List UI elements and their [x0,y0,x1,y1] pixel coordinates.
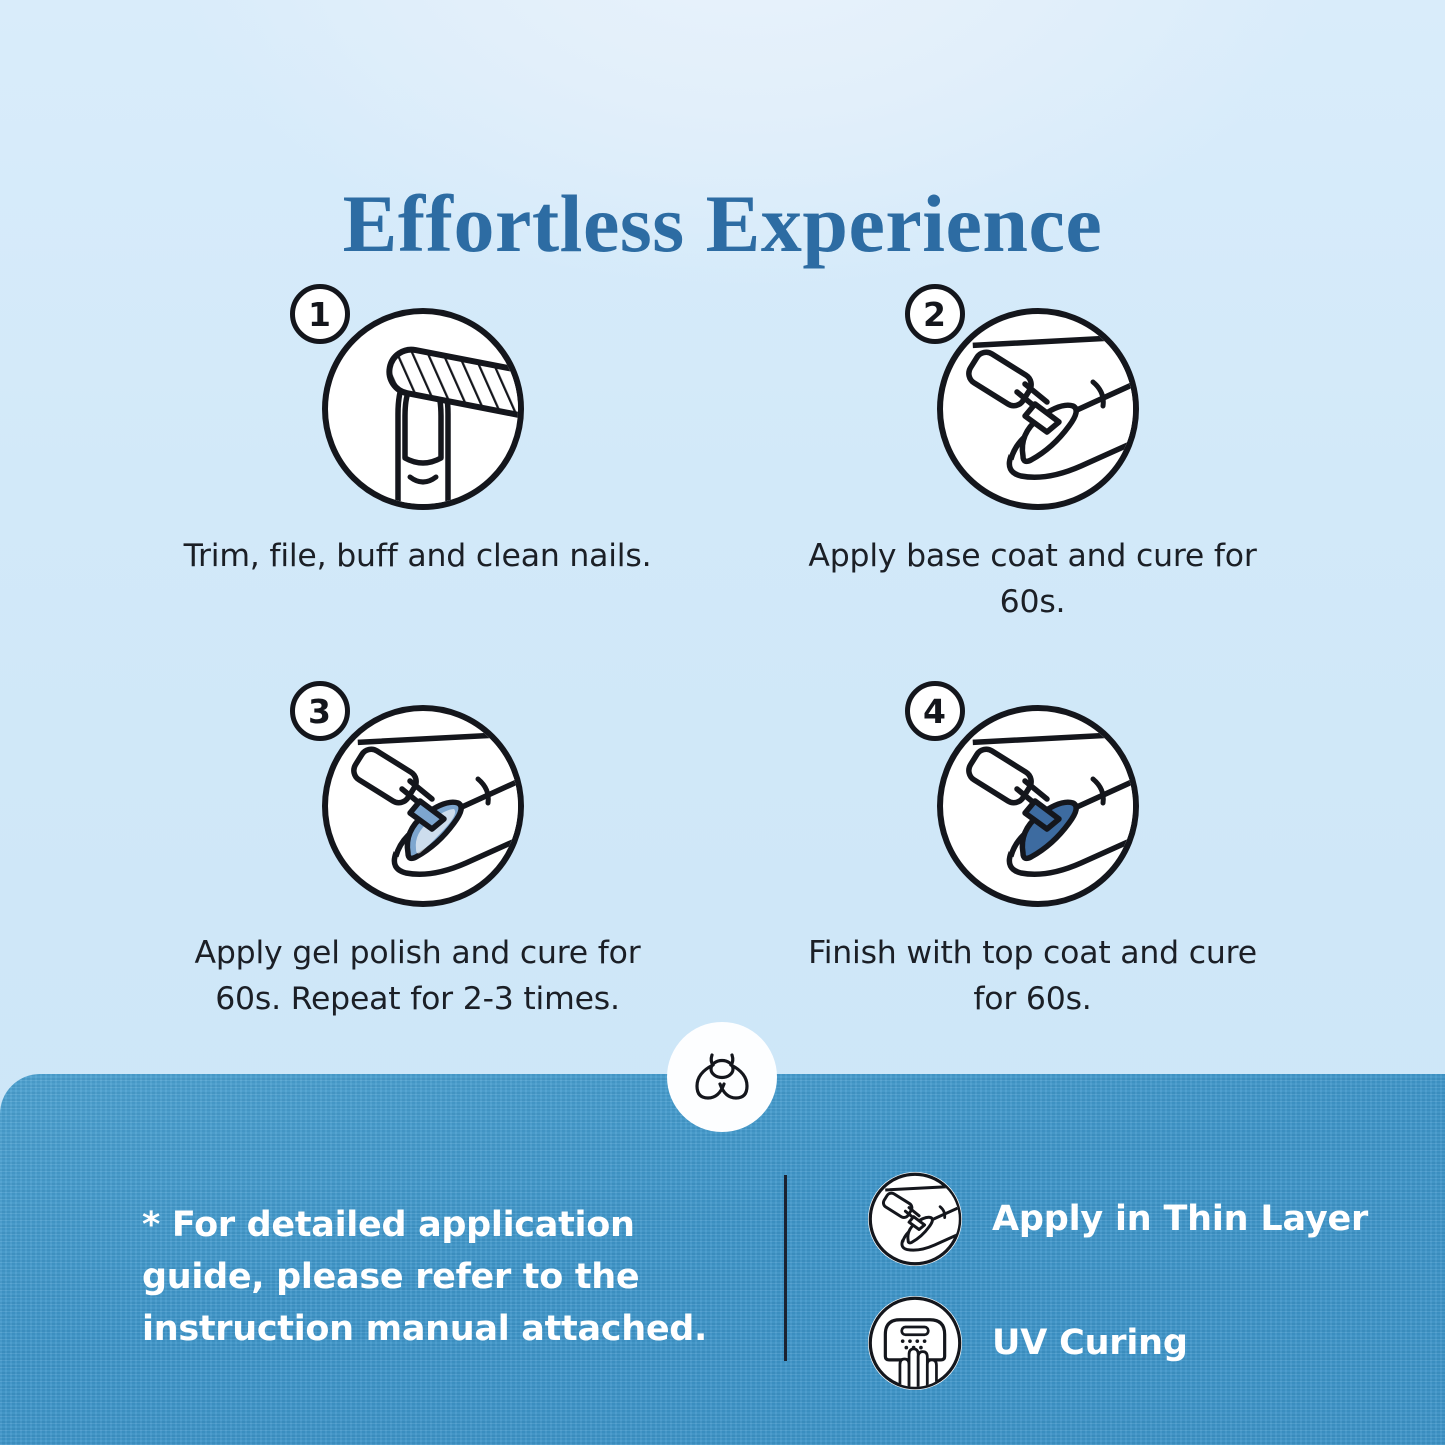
step-illustration-2: 2 [897,276,1169,512]
footer-divider [784,1175,787,1361]
gel-polish-brush-icon [320,703,526,909]
feature-label-uv-curing: UV Curing [992,1323,1188,1363]
step-card-4: 4 Finish with top coat and cure for 60s. [725,673,1340,1022]
steps-grid: 1 Trim, file, buff and clean nails. [110,276,1340,1023]
step-card-1: 1 Trim, file, buff and clean nails. [110,276,725,625]
base-coat-brush-icon [935,306,1141,512]
step-number-badge-2: 2 [905,284,965,344]
step-number-badge-1: 1 [290,284,350,344]
step-number-badge-4: 4 [905,681,965,741]
step-caption-4: Finish with top coat and cure for 60s. [798,931,1268,1022]
footer-features: Apply in Thin Layer [868,1172,1368,1390]
bee-logo-icon [691,1048,753,1106]
step-illustration-4: 4 [897,673,1169,909]
feature-label-apply-thin-layer: Apply in Thin Layer [992,1199,1368,1239]
step-card-2: 2 Apply base coat and cure for 60s. [725,276,1340,625]
top-coat-brush-icon [935,703,1141,909]
step-illustration-3: 3 [282,673,554,909]
step-caption-2: Apply base coat and cure for 60s. [798,534,1268,625]
feature-uv-curing: UV Curing [868,1296,1368,1390]
step-number-badge-3: 3 [290,681,350,741]
uv-lamp-icon [868,1296,962,1390]
step-card-3: 3 Apply gel polish and cure for 60s. Rep… [110,673,725,1022]
thin-layer-brush-icon [868,1172,962,1266]
feature-apply-thin-layer: Apply in Thin Layer [868,1172,1368,1266]
footer-note: * For detailed application guide, please… [142,1200,752,1355]
page-root: Effortless Experience [0,0,1445,1445]
page-title: Effortless Experience [0,183,1445,265]
step-illustration-1: 1 [282,276,554,512]
nail-file-icon [320,306,526,512]
brand-logo-badge [667,1022,777,1132]
step-caption-1: Trim, file, buff and clean nails. [183,534,653,580]
step-caption-3: Apply gel polish and cure for 60s. Repea… [183,931,653,1022]
